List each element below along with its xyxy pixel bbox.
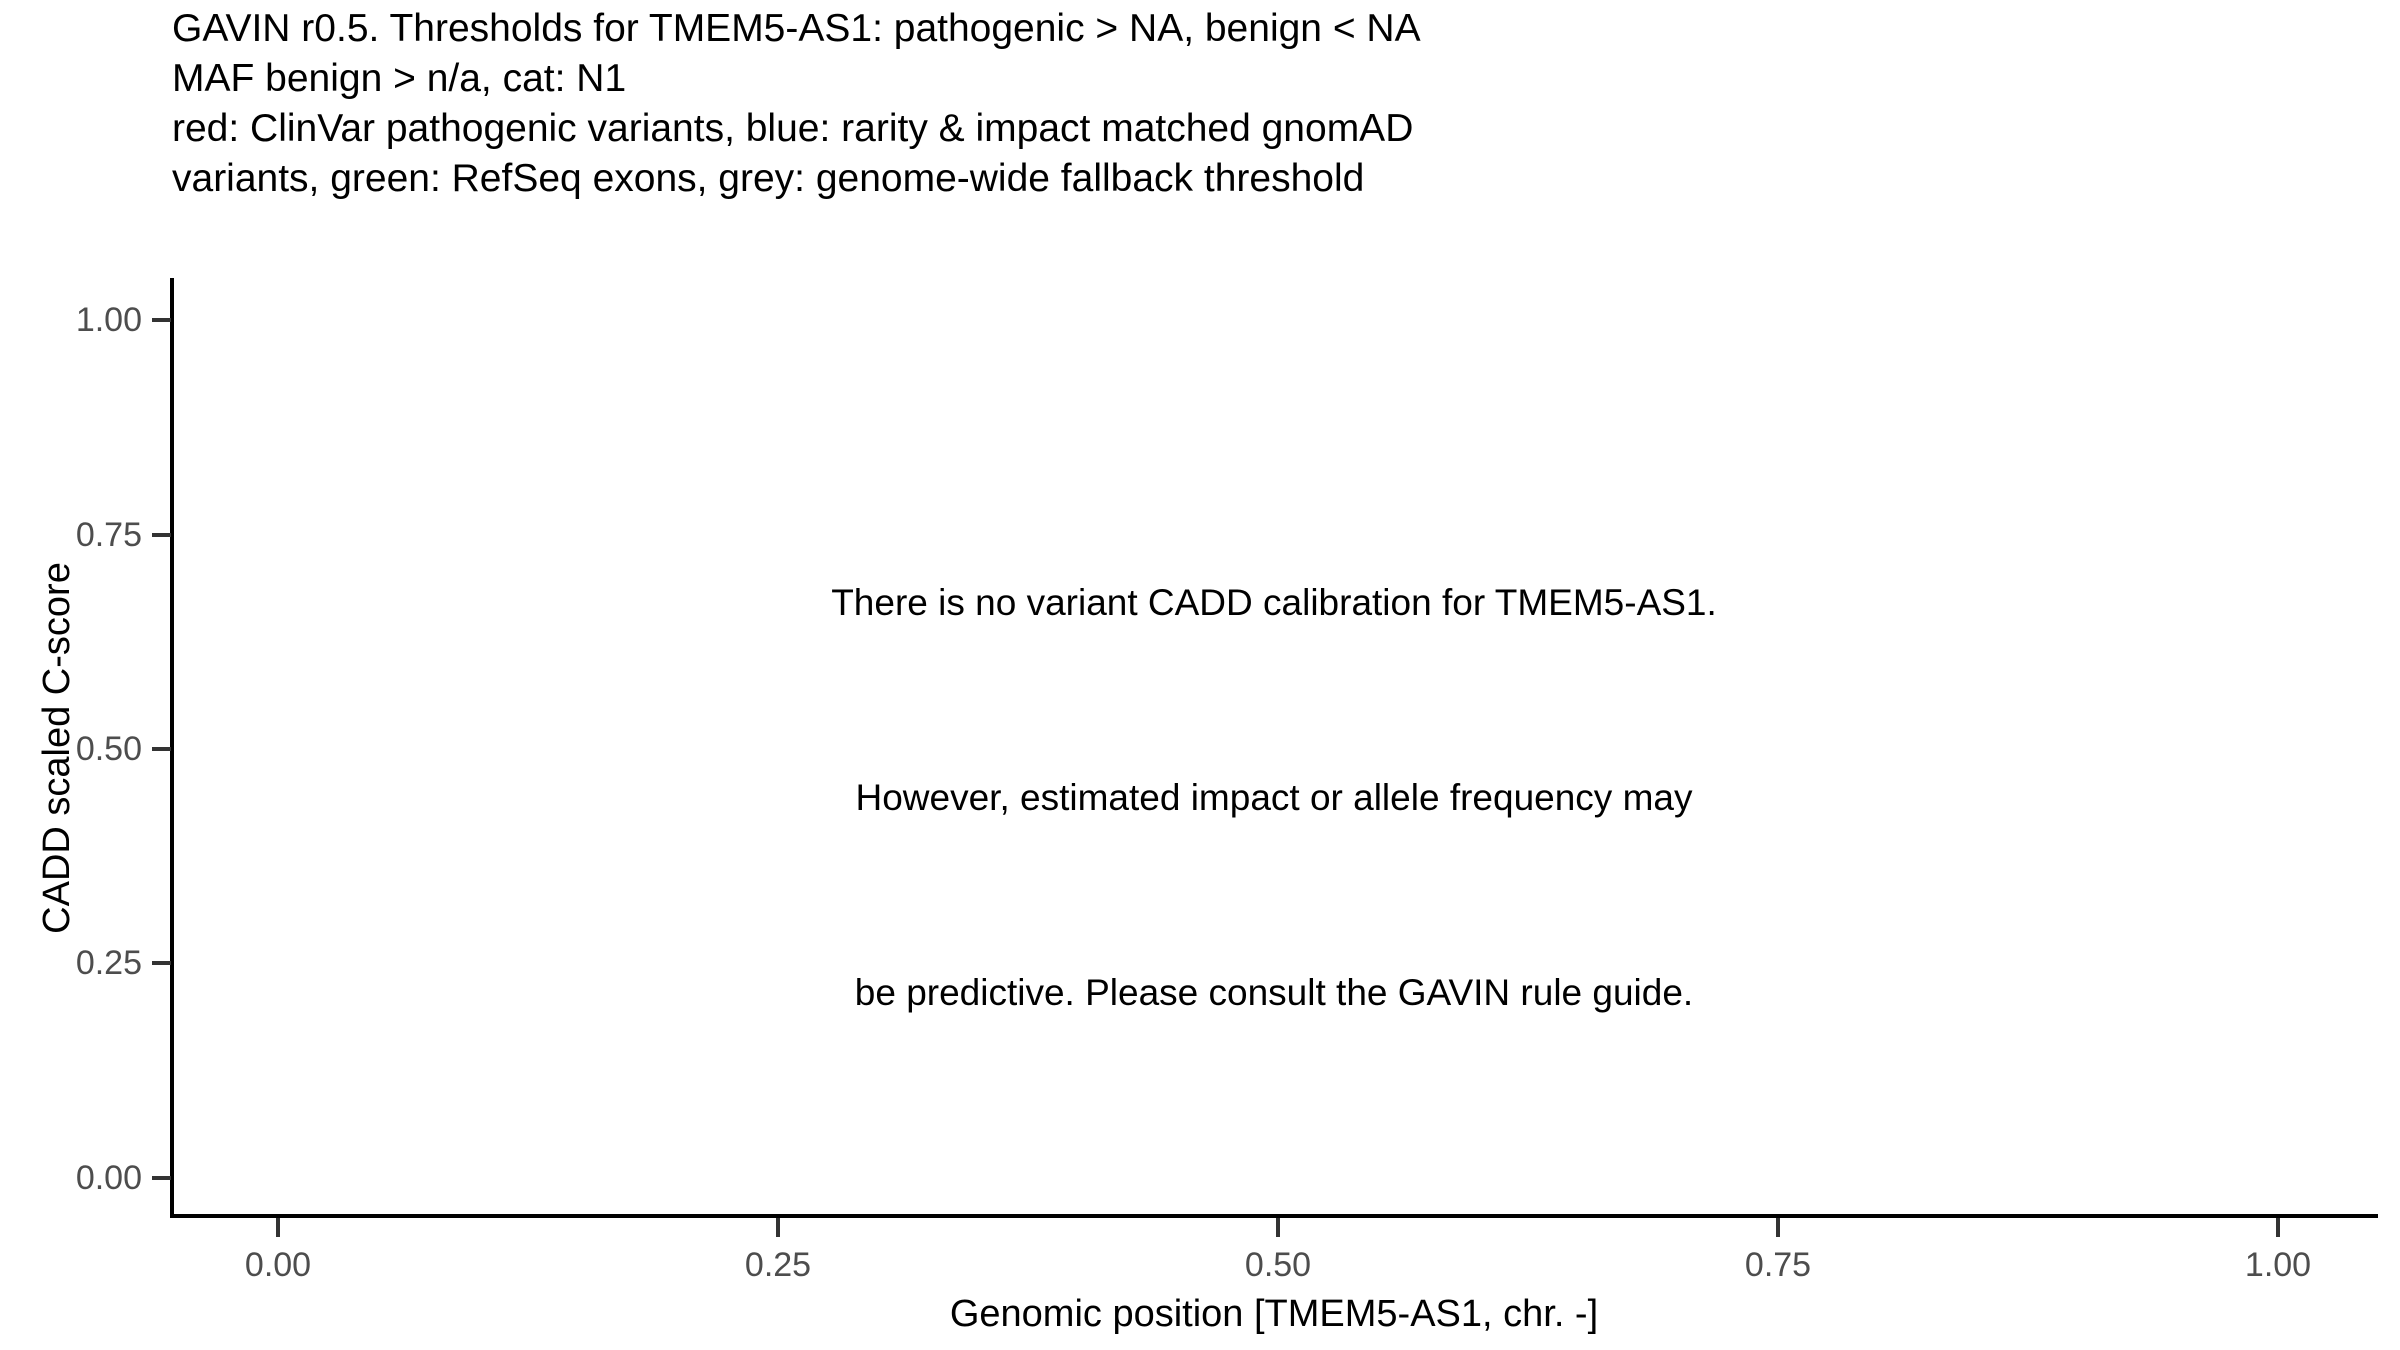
- title-line-2: MAF benign > n/a, cat: N1: [172, 54, 2352, 104]
- y-tick-3: [152, 533, 171, 537]
- title-line-1: GAVIN r0.5. Thresholds for TMEM5-AS1: pa…: [172, 4, 2352, 54]
- y-tick-label-4: 1.00: [76, 303, 142, 337]
- annotation-line-1: There is no variant CADD calibration for…: [170, 570, 2378, 635]
- x-tick-0: [276, 1218, 280, 1237]
- chart-title: GAVIN r0.5. Thresholds for TMEM5-AS1: pa…: [172, 4, 2352, 204]
- x-tick-label-0: 0.00: [245, 1248, 311, 1282]
- x-tick-label-1: 0.25: [745, 1248, 811, 1282]
- y-tick-label-1: 0.25: [76, 946, 142, 980]
- chart-canvas: GAVIN r0.5. Thresholds for TMEM5-AS1: pa…: [0, 0, 2400, 1350]
- y-tick-label-2: 0.50: [76, 732, 142, 766]
- x-axis-title: Genomic position [TMEM5-AS1, chr. -]: [170, 1295, 2378, 1333]
- x-tick-label-4: 1.00: [2245, 1248, 2311, 1282]
- x-tick-2: [1276, 1218, 1280, 1237]
- title-line-4: variants, green: RefSeq exons, grey: gen…: [172, 154, 2352, 204]
- x-tick-1: [776, 1218, 780, 1237]
- annotation-line-3: be predictive. Please consult the GAVIN …: [170, 960, 2378, 1025]
- x-tick-label-3: 0.75: [1745, 1248, 1811, 1282]
- y-tick-4: [152, 318, 171, 322]
- y-tick-0: [152, 1176, 171, 1180]
- y-tick-2: [152, 747, 171, 751]
- x-tick-3: [1776, 1218, 1780, 1237]
- x-tick-4: [2276, 1218, 2280, 1237]
- y-tick-1: [152, 961, 171, 965]
- title-line-3: red: ClinVar pathogenic variants, blue: …: [172, 104, 2352, 154]
- x-axis-line: [170, 1214, 2378, 1218]
- annotation-line-2: However, estimated impact or allele freq…: [170, 765, 2378, 830]
- y-tick-label-3: 0.75: [76, 518, 142, 552]
- y-axis-title: CADD scaled C-score: [38, 278, 76, 1218]
- x-tick-label-2: 0.50: [1245, 1248, 1311, 1282]
- plot-annotation: There is no variant CADD calibration for…: [170, 440, 2378, 1155]
- y-tick-label-0: 0.00: [76, 1161, 142, 1195]
